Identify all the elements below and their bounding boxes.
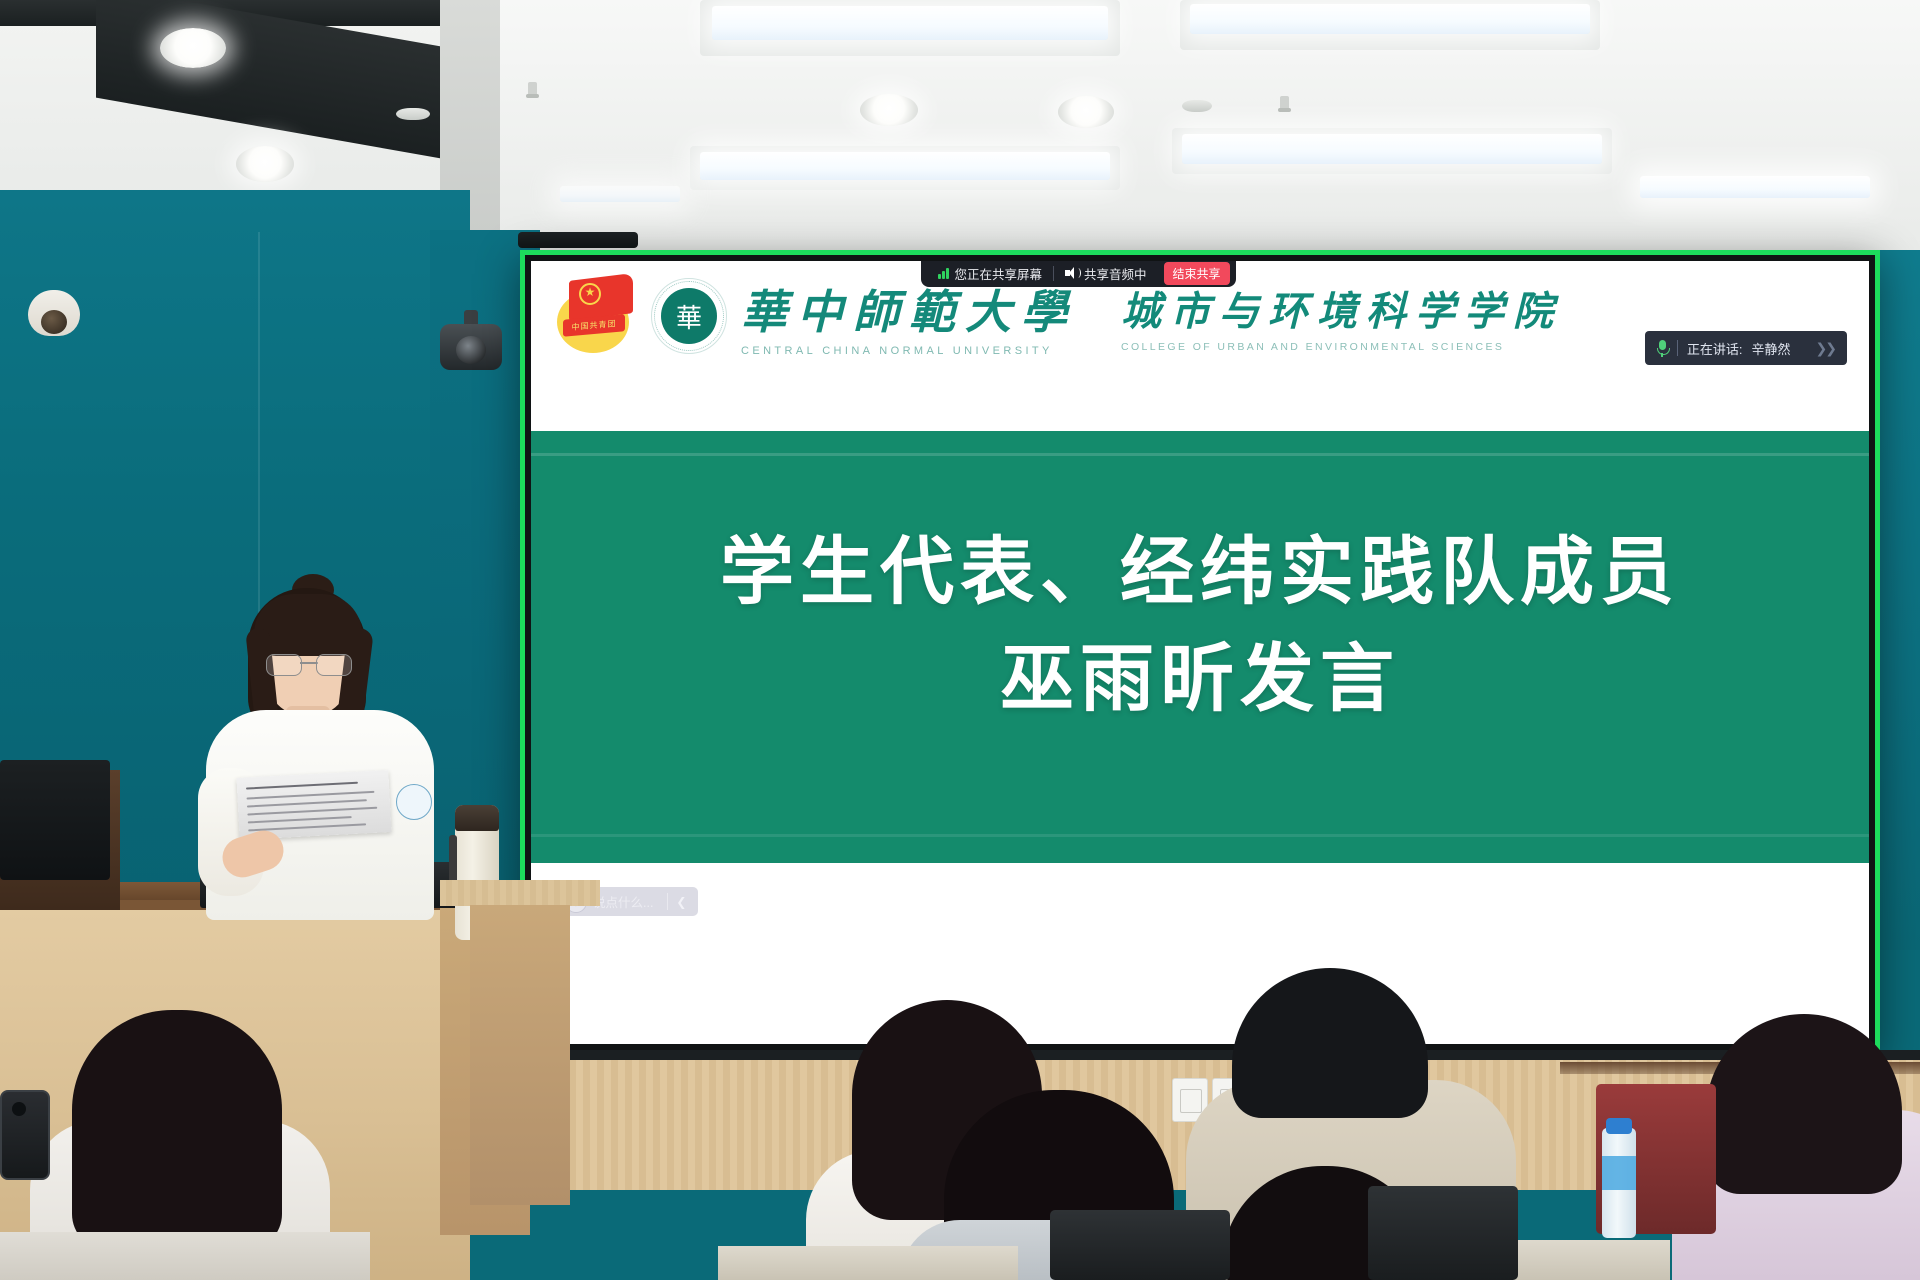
presenter-speech-paper <box>236 770 391 840</box>
presenter-glasses-icon <box>266 654 352 674</box>
thermos-cap <box>455 805 499 831</box>
tshirt-logo-icon <box>396 784 432 820</box>
smartphone-recording <box>0 1090 50 1180</box>
recessed-downlight <box>860 94 918 126</box>
audience-desk <box>0 1232 370 1280</box>
audience-chair <box>1368 1186 1518 1280</box>
ceiling-light-tube <box>700 152 1110 180</box>
desk-monitor <box>0 760 110 880</box>
smoke-detector-icon <box>396 108 430 120</box>
ceiling-speaker <box>518 232 638 248</box>
recessed-downlight <box>1058 96 1114 128</box>
audience-chair <box>1050 1210 1230 1280</box>
ceiling-light-tube <box>712 6 1108 40</box>
ptz-camera-icon <box>440 310 502 370</box>
sprinkler-head-icon <box>528 82 537 98</box>
lecture-hall-photo: ★ 中国共青团 華 華中師範大學 CENTRAL CHINA NORMAL UN… <box>0 0 1920 1280</box>
sprinkler-head-icon <box>1280 96 1289 112</box>
projection-screen: ★ 中国共青团 華 華中師範大學 CENTRAL CHINA NORMAL UN… <box>520 250 1880 1055</box>
dome-camera-icon <box>28 290 80 336</box>
side-cabinet <box>470 905 570 1205</box>
side-table <box>440 880 600 906</box>
audience-hair <box>72 1010 282 1250</box>
ceiling-light-tube <box>1182 134 1602 164</box>
ceiling-light-tube <box>1190 4 1590 34</box>
audience-desk <box>718 1246 1018 1280</box>
smoke-detector-icon <box>1182 100 1212 112</box>
screen-share-green-border <box>520 250 1880 1055</box>
bottle-cap <box>1606 1118 1632 1134</box>
recessed-downlight <box>236 146 294 182</box>
bottle-label <box>1602 1156 1636 1190</box>
recessed-downlight <box>160 28 226 68</box>
presenter-person <box>200 588 440 918</box>
ceiling-light-tube <box>560 186 680 202</box>
ceiling-light-tube <box>1640 176 1870 198</box>
